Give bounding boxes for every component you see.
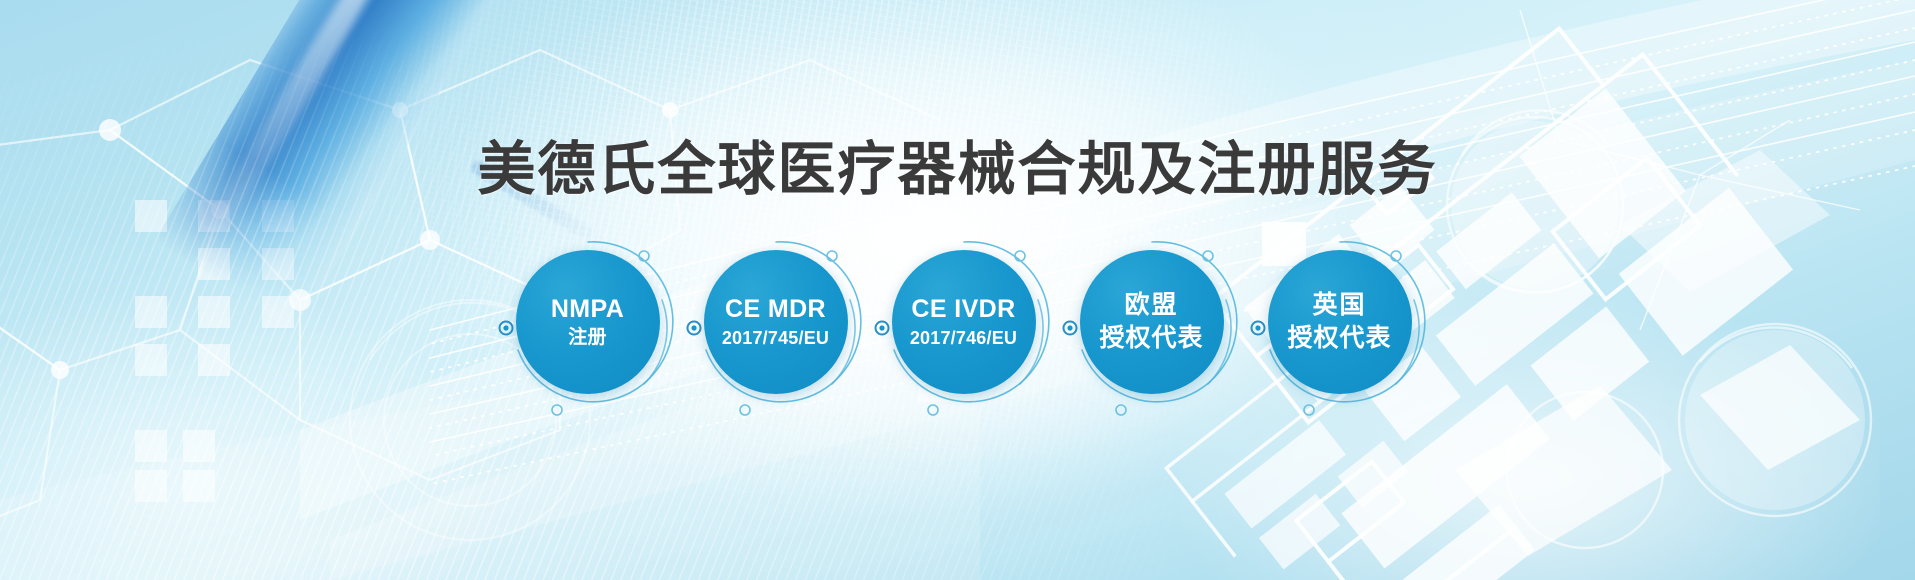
service-badge-ce-mdr[interactable]: CE MDR 2017/745/EU <box>696 242 856 402</box>
banner-title: 美德氏全球医疗器械合规及注册服务 <box>0 122 1915 206</box>
service-badge-nmpa[interactable]: NMPA 注册 <box>508 242 668 402</box>
badge-disc[interactable]: 英国 授权代表 <box>1268 250 1412 394</box>
service-badge-eu-rep[interactable]: 欧盟 授权代表 <box>1072 242 1232 402</box>
badge-line1: 英国 <box>1312 291 1366 321</box>
service-badge-ce-ivdr[interactable]: CE IVDR 2017/746/EU <box>884 242 1044 402</box>
badge-line2: 2017/745/EU <box>722 328 829 349</box>
badge-line1: CE MDR <box>725 295 826 325</box>
badge-line2: 授权代表 <box>1099 324 1203 354</box>
badge-line1: 欧盟 <box>1124 291 1178 321</box>
badge-disc[interactable]: 欧盟 授权代表 <box>1080 250 1224 394</box>
badge-line1: CE IVDR <box>911 295 1015 325</box>
service-badge-row: NMPA 注册 CE MDR 2017/745/EU <box>0 242 1915 402</box>
badge-line2: 授权代表 <box>1287 324 1391 354</box>
badge-line2: 注册 <box>568 327 606 349</box>
badge-line2: 2017/746/EU <box>910 328 1017 349</box>
badge-disc[interactable]: NMPA 注册 <box>516 250 660 394</box>
service-badge-uk-rep[interactable]: 英国 授权代表 <box>1260 242 1420 402</box>
badge-line1: NMPA <box>551 295 624 325</box>
badge-disc[interactable]: CE IVDR 2017/746/EU <box>892 250 1036 394</box>
banner-root: 美德氏全球医疗器械合规及注册服务 NMPA 注册 <box>0 0 1915 580</box>
badge-disc[interactable]: CE MDR 2017/745/EU <box>704 250 848 394</box>
